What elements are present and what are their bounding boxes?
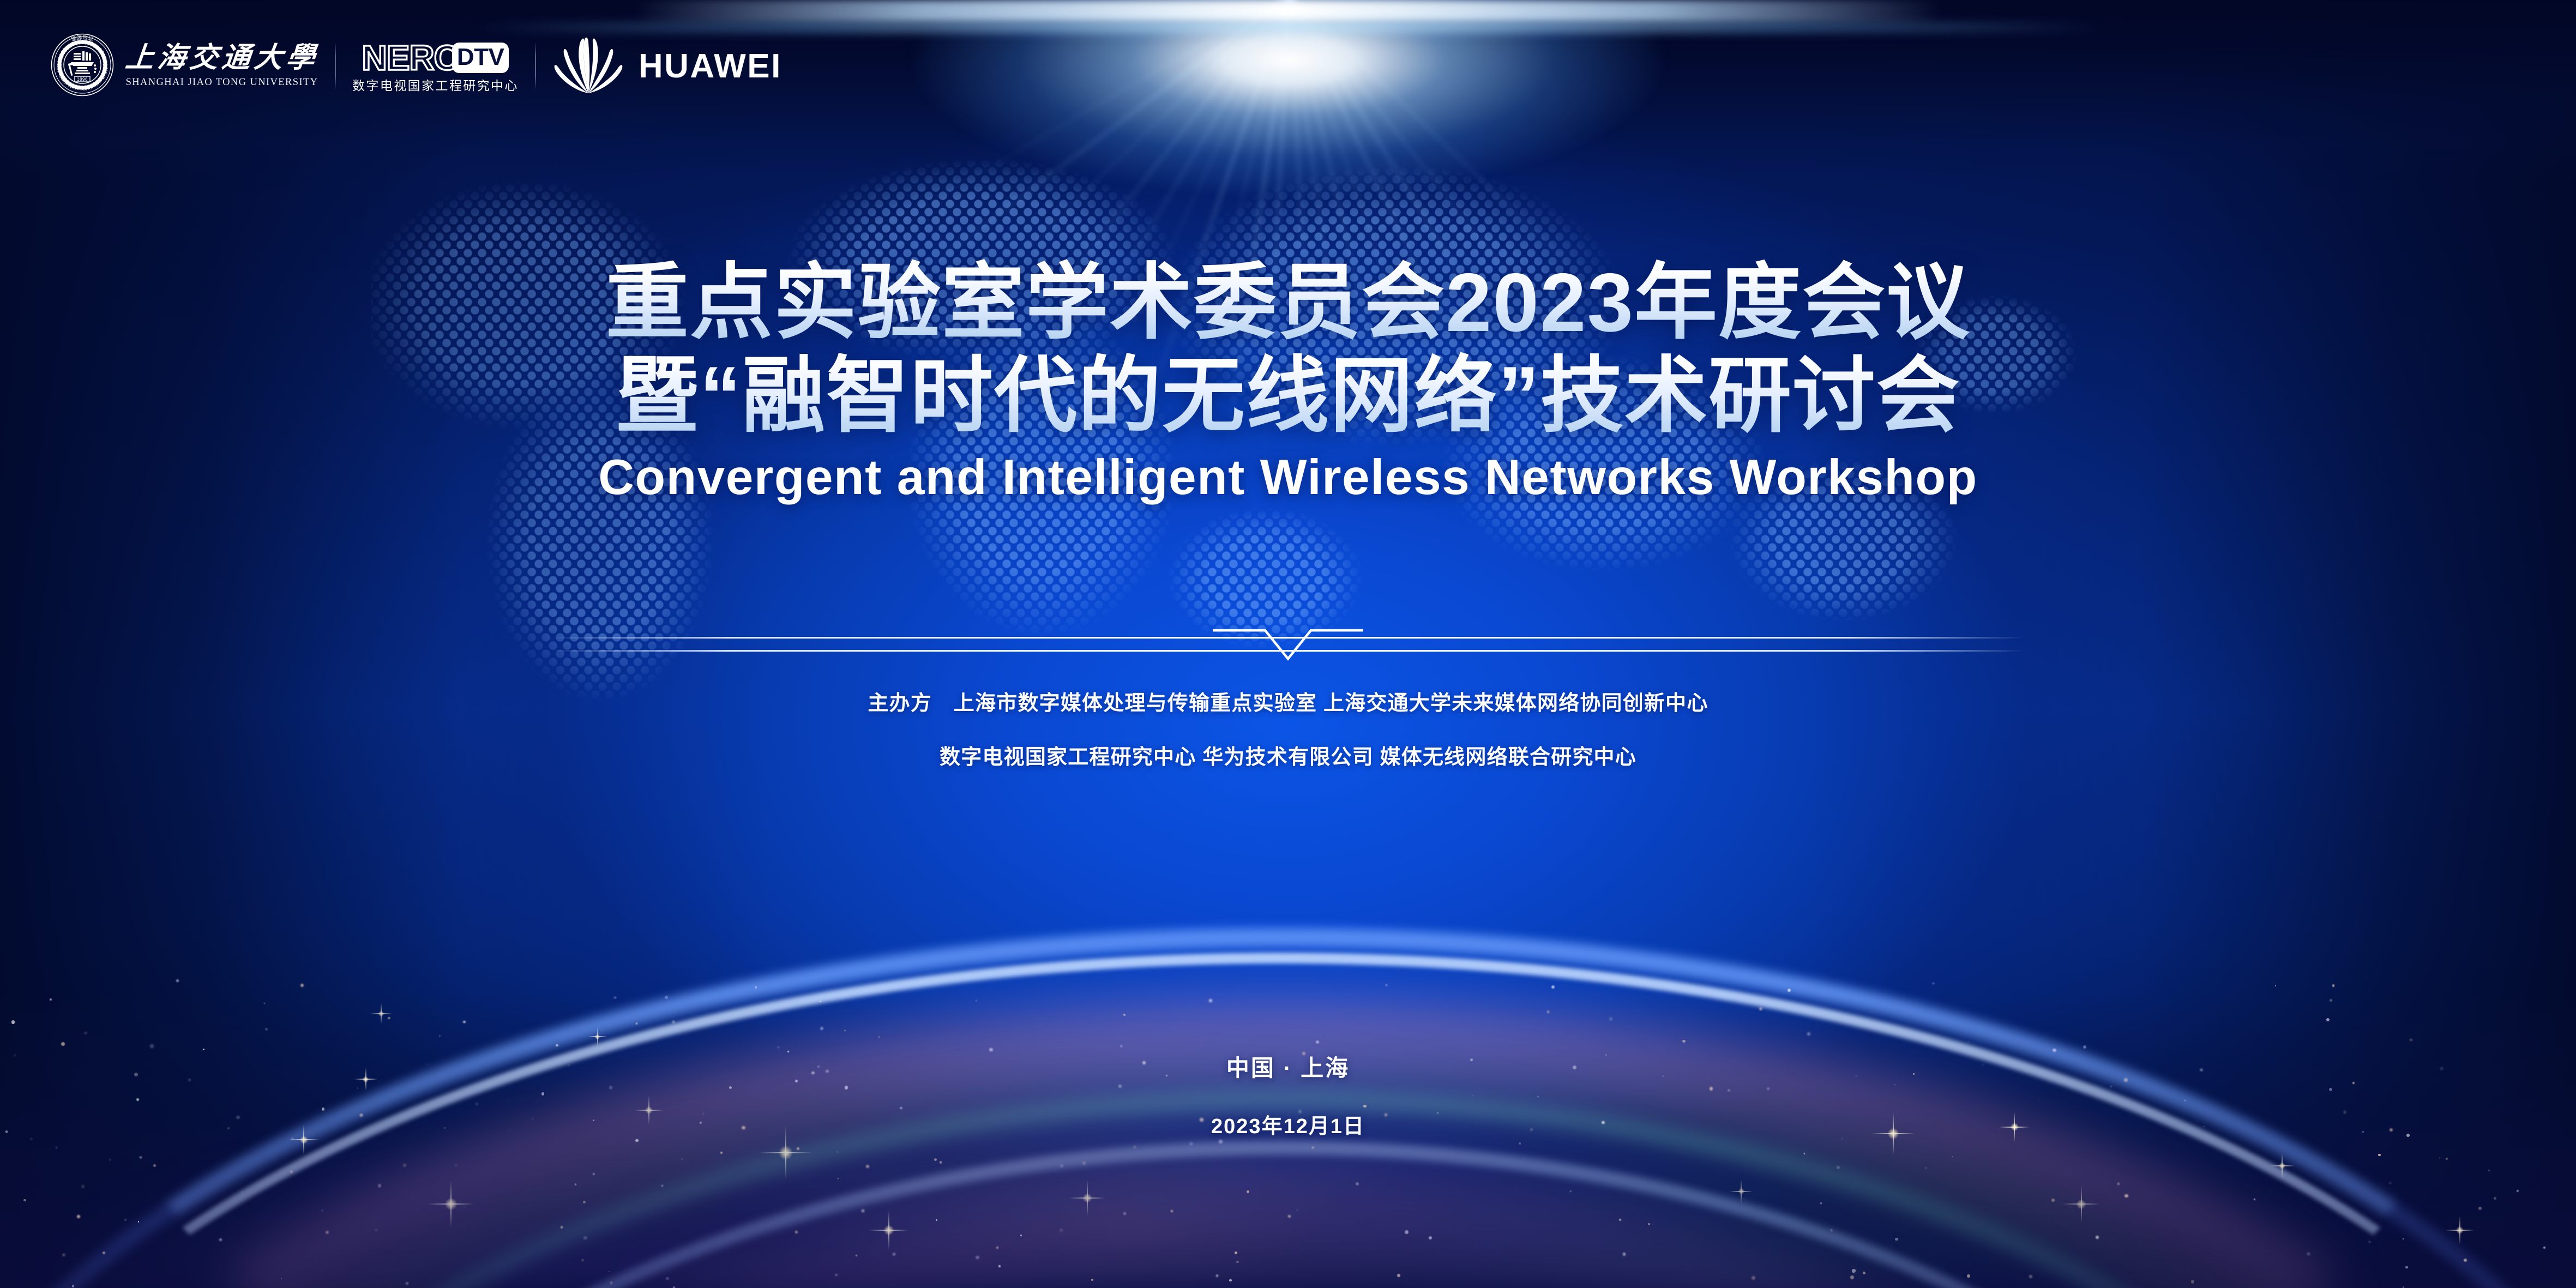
sparkle-dot [665, 996, 668, 999]
sparkle-dot [150, 1044, 154, 1048]
sparkle-dot [1863, 1272, 1865, 1274]
sparkle-dot [1229, 1279, 1231, 1281]
sparkle-dot [1060, 1229, 1063, 1232]
sparkle-dot [265, 1028, 268, 1031]
sparkle-dot [996, 1247, 998, 1249]
sparkle-dot [610, 1281, 612, 1284]
sparkle-dot [406, 1282, 408, 1285]
sjtu-seal-icon: 1896 思源致远 SHANGHAI JIAO TONG UNIVERSITY [50, 33, 115, 100]
sparkle-dot [264, 1003, 265, 1004]
sparkle-dot [1895, 1238, 1898, 1241]
organizers-label: 主办方 [868, 692, 932, 715]
sparkle-dot [1171, 1210, 1173, 1212]
sparkle-dot [583, 1236, 587, 1240]
sparkle-dot [661, 1185, 663, 1187]
sparkle-dot [404, 1164, 406, 1166]
sparkle-dot [2543, 1247, 2546, 1249]
sparkle-dot [1852, 1269, 1855, 1272]
sparkle-glint [1738, 1188, 1745, 1195]
sparkle-dot [1850, 1275, 1854, 1279]
title-line-2-cn: 暨“融智时代的无线网络”技术研讨会 [0, 348, 2576, 444]
sparkle-dot [1682, 1040, 1686, 1043]
sparkle-dot [976, 1000, 978, 1002]
sparkle-dot [2191, 1280, 2194, 1283]
sparkle-dot [835, 1274, 837, 1276]
sparkle-dot [2488, 1170, 2490, 1171]
sparkle-dot [1216, 1274, 1219, 1277]
sparkle-dot [1807, 1032, 1810, 1036]
logo-divider-2 [535, 42, 536, 90]
sparkle-dot [795, 1231, 798, 1233]
sparkle-dot [575, 1183, 576, 1185]
sparkle-dot [2124, 1194, 2128, 1198]
sparkle-dot [1837, 1166, 1840, 1169]
sparkle-dot [681, 1158, 682, 1159]
sparkle-dot [11, 1020, 15, 1024]
footer-location: 中国 · 上海 [0, 1050, 2576, 1083]
sparkle-dot [153, 1164, 156, 1167]
sparkle-glint [883, 1224, 895, 1236]
dtv-badge: DTV [452, 43, 509, 73]
sparkle-dot [2478, 1207, 2482, 1210]
sparkle-dot [2446, 1158, 2448, 1160]
nerc-wordmark-row: NERC DTV [362, 40, 509, 75]
title-line-1-cn: 重点实验室学术委员会2023年度会议 [0, 257, 2576, 348]
sparkle-dot [820, 1001, 821, 1002]
sparkle-dot [2096, 1236, 2099, 1239]
sparkle-dot [582, 1260, 583, 1261]
sparkle-dot [1189, 1142, 1193, 1146]
sparkle-dot [1316, 1040, 1319, 1044]
sparkle-glint [778, 1145, 794, 1161]
sparkle-glint [378, 1010, 384, 1017]
sparkle-dot [636, 1022, 637, 1024]
sparkle-glint [2075, 1199, 2087, 1210]
huawei-wordmark: HUAWEI [639, 47, 782, 86]
sparkle-dot [1120, 1045, 1123, 1048]
sparkle-dot [1967, 1274, 1970, 1278]
footer-block: 中国 · 上海 2023年12月1日 [0, 1050, 2576, 1139]
sparkle-dot [755, 986, 757, 988]
conference-banner: 1896 思源致远 SHANGHAI JIAO TONG UNIVERSITY … [0, 0, 2576, 1288]
sparkle-dot [862, 1209, 864, 1212]
divider-v-notch-icon [1206, 627, 1370, 663]
sparkle-dot [672, 1020, 675, 1024]
sparkle-dot [1570, 1190, 1572, 1192]
sparkle-dot [322, 1210, 323, 1211]
sparkle-dot [140, 1157, 141, 1158]
sparkle-dot [614, 997, 616, 998]
sparkle-dot [1020, 1235, 1022, 1236]
sparkle-dot [893, 1253, 895, 1255]
sparkle-dot [1123, 1014, 1126, 1016]
sparkle-dot [326, 1231, 328, 1233]
sparkle-dot [2464, 1259, 2467, 1262]
sparkle-dot [2330, 999, 2332, 1002]
sparkle-dot [2494, 1197, 2496, 1200]
sparkle-dot [838, 1178, 839, 1179]
sparkle-dot [1933, 983, 1934, 984]
organizers-line-1-text: 上海市数字媒体处理与传输重点实验室 上海交通大学未来媒体网络协同创新中心 [954, 692, 1708, 715]
logo-divider-1 [335, 42, 336, 90]
sparkle-dot [878, 1036, 880, 1038]
sparkle-dot [2517, 1190, 2519, 1192]
sparkle-glint [2455, 1226, 2464, 1235]
sparkle-dot [797, 1147, 799, 1150]
sparkle-dot [1297, 1209, 1298, 1211]
sparkle-dot [1752, 1276, 1755, 1280]
sparkle-dot [2389, 1182, 2391, 1184]
sparkle-dot [138, 1221, 139, 1222]
logo-nerc-dtv: NERC DTV 数字电视国家工程研究中心 [352, 40, 519, 92]
title-line-en: Convergent and Intelligent Wireless Netw… [0, 449, 2576, 506]
nerc-subtitle-cn: 数字电视国家工程研究中心 [352, 80, 519, 92]
sparkle-dot [290, 1171, 292, 1173]
sparkle-dot [998, 1265, 1001, 1267]
sparkle-dot [1820, 1202, 1822, 1204]
sparkle-glint [1082, 1193, 1093, 1203]
logo-shanghai-jiao-tong-university: 1896 思源致远 SHANGHAI JIAO TONG UNIVERSITY … [50, 33, 318, 100]
logo-huawei: HUAWEI [552, 34, 782, 98]
sparkle-dot [1551, 985, 1555, 989]
sparkle-dot [2117, 1183, 2120, 1185]
sparkle-dot [103, 1251, 105, 1254]
sparkle-dot [1804, 1153, 1805, 1154]
sparkle-dot [934, 1158, 937, 1161]
sparkle-dot [856, 1255, 857, 1256]
sparkle-dot [866, 1165, 869, 1168]
sparkle-dot [1133, 1146, 1136, 1148]
sparkle-dot [635, 1139, 638, 1142]
sparkle-dot [50, 998, 52, 1001]
sparkle-dot [820, 1027, 823, 1030]
sparkle-dot [2403, 1238, 2404, 1239]
sparkle-dot [1648, 1223, 1650, 1225]
sparkle-dot [2029, 1275, 2032, 1278]
sparkle-dot [1247, 1190, 1249, 1193]
organizers-block: 主办方 上海市数字媒体处理与传输重点实验室 上海交通大学未来媒体网络协同创新中心… [0, 686, 2576, 770]
sparkle-dot [124, 1219, 127, 1221]
sparkle-dot [176, 979, 179, 982]
sparkle-glint [444, 1197, 458, 1211]
sparkle-dot [63, 1254, 64, 1256]
sparkle-dot [2254, 1199, 2255, 1200]
sparkle-dot [1235, 1251, 1237, 1254]
sparkle-dot [1311, 1146, 1314, 1149]
sparkle-dot [110, 1159, 111, 1160]
sparkle-dot [844, 1030, 846, 1032]
sparkle-dot [81, 1185, 85, 1188]
sparkle-dot [455, 1164, 457, 1166]
sparkle-dot [1968, 1042, 1969, 1043]
sparkle-dot [1091, 1279, 1093, 1281]
svg-text:1896: 1896 [77, 77, 88, 82]
footer-date: 2023年12月1日 [0, 1109, 2576, 1139]
sparkle-dot [1429, 1236, 1433, 1240]
sparkle-dot [1925, 1167, 1927, 1169]
sparkle-dot [976, 1256, 979, 1260]
sparkle-dot [609, 1271, 610, 1273]
sparkle-dot [1219, 1140, 1223, 1143]
sparkle-dot [219, 1238, 222, 1241]
sparkle-dot [1405, 1230, 1409, 1234]
sparkle-dot [72, 1285, 75, 1287]
sparkle-dot [1787, 989, 1791, 992]
sparkle-dot [666, 1277, 669, 1280]
sparkle-dot [1356, 1182, 1359, 1185]
sparkle-dot [1952, 1156, 1953, 1158]
sparkle-dot [1386, 984, 1387, 986]
sparkle-dot [1547, 1010, 1550, 1013]
sparkle-dot [2083, 1045, 2086, 1049]
sparkle-dot [1082, 1161, 1086, 1165]
sparkle-dot [1060, 1164, 1063, 1167]
organizers-line-1: 主办方 上海市数字媒体处理与传输重点实验室 上海交通大学未来媒体网络协同创新中心 [0, 686, 2576, 716]
sparkle-dot [2410, 1039, 2412, 1042]
sparkle-dot [242, 1191, 243, 1193]
sparkle-dot [1609, 1017, 1612, 1020]
sparkle-dot [556, 1044, 558, 1047]
sparkle-dot [593, 1173, 595, 1176]
decorative-divider [552, 627, 2024, 671]
nerc-word: NERC [362, 40, 459, 75]
sparkle-dot [2326, 1018, 2330, 1021]
sparkle-dot [2369, 1241, 2370, 1243]
organizers-line-2: 数字电视国家工程研究中心 华为技术有限公司 媒体无线网络联合研究中心 [0, 740, 2576, 770]
sparkle-dot [1519, 1142, 1521, 1145]
sjtu-name-en: SHANGHAI JIAO TONG UNIVERSITY [126, 77, 318, 88]
title-block: 重点实验室学术委员会2023年度会议 暨“融智时代的无线网络”技术研讨会 Con… [0, 257, 2576, 506]
sparkle-dot [1209, 999, 1212, 1002]
sjtu-name-block: 上海交通大學 SHANGHAI JIAO TONG UNIVERSITY [125, 44, 318, 88]
sparkle-dot [1619, 1219, 1621, 1221]
sparkle-glint [594, 1034, 600, 1040]
sparkle-dot [1623, 1253, 1626, 1256]
sparkle-dot [56, 1147, 57, 1148]
logo-row: 1896 思源致远 SHANGHAI JIAO TONG UNIVERSITY … [50, 34, 782, 98]
sparkle-dot [2332, 984, 2335, 987]
sparkle-dot [2275, 985, 2277, 986]
sparkle-dot [778, 1046, 779, 1048]
sparkle-dot [2405, 1266, 2408, 1269]
sparkle-dot [1288, 1215, 1290, 1217]
huawei-flower-icon [552, 34, 624, 98]
sparkle-dot [281, 1278, 282, 1279]
sparkle-dot [23, 1199, 26, 1201]
sparkle-dot [463, 1021, 465, 1023]
sparkle-dot [720, 1152, 723, 1154]
sparkle-dot [837, 1151, 838, 1152]
sparkle-dot [61, 1042, 65, 1046]
sparkle-dot [940, 1161, 942, 1164]
sparkle-dot [936, 1219, 937, 1221]
sparkle-dot [378, 1184, 381, 1187]
sparkle-dot [388, 1017, 390, 1020]
sparkle-dot [583, 1201, 586, 1203]
sparkle-dot [85, 1032, 87, 1034]
sparkle-dot [1831, 1229, 1832, 1231]
sparkle-dot [77, 1215, 80, 1218]
sjtu-name-cn: 上海交通大學 [124, 44, 320, 73]
sparkle-dot [300, 984, 304, 987]
sparkle-dot [2307, 1253, 2310, 1255]
sparkle-dot [2378, 1154, 2381, 1157]
sparkle-dot [1397, 1274, 1400, 1277]
sparkle-dot [561, 1226, 563, 1228]
sparkle-dot [439, 1035, 441, 1037]
sparkle-dot [1759, 1007, 1762, 1010]
sparkle-glint [2278, 1162, 2286, 1170]
sparkle-dot [1123, 1212, 1126, 1215]
sparkle-dot [2439, 1157, 2441, 1159]
sparkle-dot [1236, 1261, 1239, 1263]
sparkle-dot [376, 1229, 377, 1230]
sparkle-dot [2051, 1199, 2055, 1202]
